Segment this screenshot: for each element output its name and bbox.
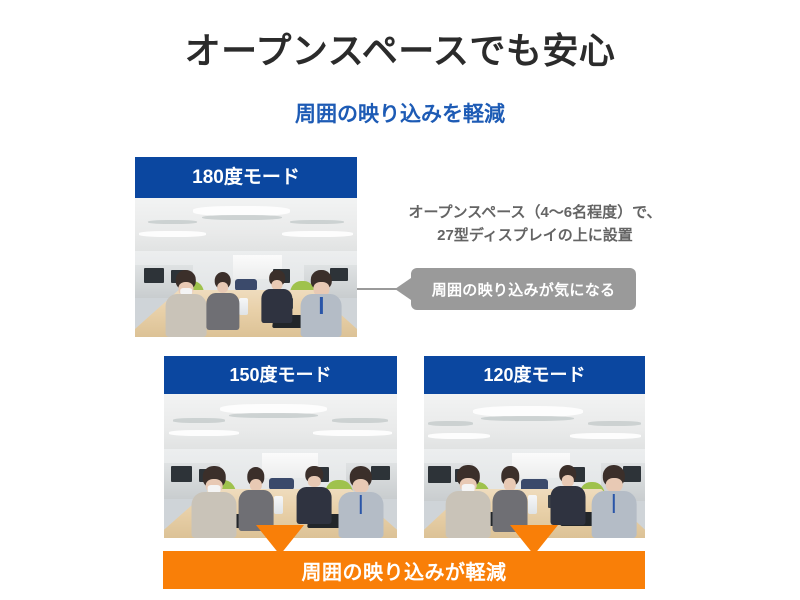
person xyxy=(590,465,639,538)
ceiling-glow xyxy=(169,430,239,436)
person xyxy=(190,466,239,538)
person xyxy=(294,466,334,524)
panel-120-photo xyxy=(424,394,645,538)
person-body xyxy=(446,491,491,538)
person-body xyxy=(206,293,239,330)
person xyxy=(164,270,208,337)
panel-120-degree-mode: 120度モード xyxy=(424,356,645,538)
person-body xyxy=(166,294,207,337)
person-body xyxy=(261,289,292,323)
ceiling-light xyxy=(481,416,574,422)
ceiling-light xyxy=(173,418,224,422)
person xyxy=(548,465,588,525)
installation-description-line1: オープンスペース（4〜6名程度）で、 xyxy=(385,201,685,224)
result-banner-label: 周囲の映り込みが軽減 xyxy=(302,556,507,585)
person-face xyxy=(504,478,516,491)
person-body xyxy=(550,486,585,525)
ceiling xyxy=(164,394,397,454)
ceiling-light xyxy=(332,418,388,422)
person-face xyxy=(561,475,573,486)
panel-120-header-label: 120度モード xyxy=(424,356,645,394)
panel-180-degree-mode: 180度モード xyxy=(135,157,357,337)
person xyxy=(490,466,530,532)
ceiling-glow xyxy=(570,433,641,439)
person-face xyxy=(250,479,262,491)
person-body xyxy=(297,487,332,524)
person xyxy=(259,270,295,323)
person xyxy=(444,465,493,538)
office-scene-120 xyxy=(424,394,645,538)
person-face xyxy=(308,476,320,487)
panel-180-photo xyxy=(135,198,357,337)
person-body xyxy=(192,492,237,538)
ceiling-glow xyxy=(282,231,353,237)
result-banner: 周囲の映り込みが軽減 xyxy=(163,551,645,589)
lanyard xyxy=(613,494,615,513)
lanyard xyxy=(360,495,362,514)
person-face xyxy=(217,282,229,293)
ceiling-glow xyxy=(139,231,206,237)
callout-reflection-concern: 周囲の映り込みが気になる xyxy=(411,268,636,310)
panel-150-degree-mode: 150度モード xyxy=(164,356,397,538)
ceiling-glow xyxy=(428,433,490,439)
page-subtitle: 周囲の映り込みを軽減 xyxy=(0,98,800,128)
background-monitor xyxy=(144,268,164,283)
office-scene-180 xyxy=(135,198,357,337)
page-title: オープンスペースでも安心 xyxy=(0,22,800,74)
panel-150-header-label: 150度モード xyxy=(164,356,397,394)
office-scene-150 xyxy=(164,394,397,538)
panel-180-header-label: 180度モード xyxy=(135,157,357,198)
person xyxy=(236,467,276,530)
installation-description-line2: 27型ディスプレイの上に設置 xyxy=(385,224,685,247)
ceiling-light xyxy=(428,421,472,425)
ceiling-light xyxy=(588,421,641,425)
ceiling-glow xyxy=(313,430,392,436)
lanyard xyxy=(320,297,322,314)
person xyxy=(336,466,385,538)
installation-description: オープンスペース（4〜6名程度）で、 27型ディスプレイの上に設置 xyxy=(385,201,685,248)
person xyxy=(204,272,242,330)
callout-label: 周囲の映り込みが気になる xyxy=(432,279,616,300)
panel-150-photo xyxy=(164,394,397,538)
person xyxy=(299,270,343,337)
ceiling-light xyxy=(202,215,282,221)
